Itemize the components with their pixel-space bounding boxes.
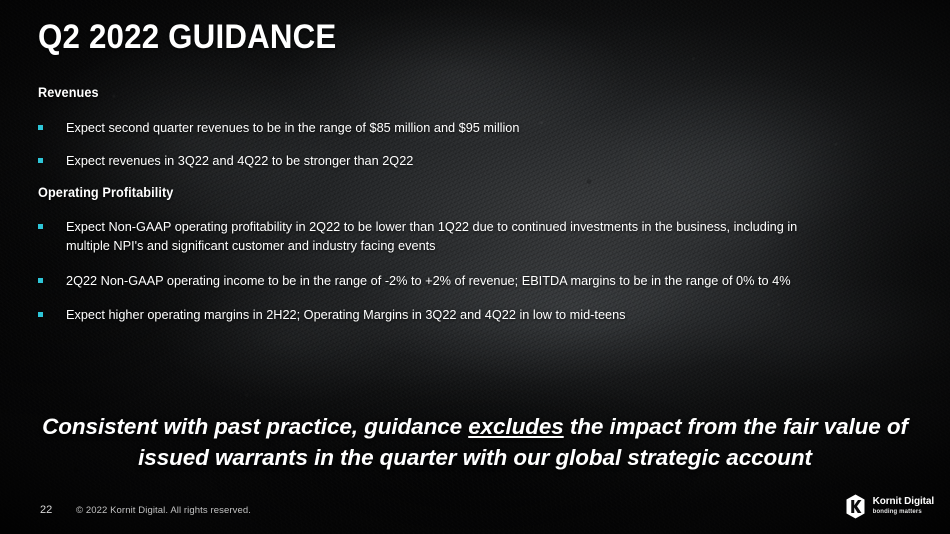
bullet-marker-icon [38, 278, 43, 283]
bullet-text: 2Q22 Non-GAAP operating income to be in … [66, 271, 791, 290]
logo-wordmark: Kornit Digital bonding matters [873, 497, 934, 516]
kornit-digital-logo: Kornit Digital bonding matters [843, 494, 934, 519]
slide-content: Q2 2022 GUIDANCE Revenues Expect second … [0, 0, 950, 534]
presentation-slide: Q2 2022 GUIDANCE Revenues Expect second … [0, 0, 950, 534]
copyright-notice: © 2022 Kornit Digital. All rights reserv… [76, 505, 251, 516]
section-heading-operating-profitability: Operating Profitability [38, 185, 173, 200]
bullet-text: Expect revenues in 3Q22 and 4Q22 to be s… [66, 151, 413, 170]
closing-emphasis: excludes [468, 414, 564, 439]
bullet-marker-icon [38, 125, 43, 130]
bullet-text: Expect higher operating margins in 2H22;… [66, 305, 626, 324]
slide-title: Q2 2022 GUIDANCE [38, 18, 336, 57]
kornit-k-icon [843, 494, 868, 519]
bullet-item: 2Q22 Non-GAAP operating income to be in … [38, 271, 928, 290]
section-heading-revenues: Revenues [38, 85, 99, 100]
closing-text-before: Consistent with past practice, guidance [42, 414, 468, 439]
bullet-item: Expect Non-GAAP operating profitability … [38, 217, 928, 255]
bullet-marker-icon [38, 224, 43, 229]
bullet-item: Expect higher operating margins in 2H22;… [38, 305, 928, 324]
bullet-text: Expect Non-GAAP operating profitability … [66, 217, 838, 255]
closing-statement: Consistent with past practice, guidance … [30, 411, 920, 473]
bullet-marker-icon [38, 312, 43, 317]
logo-company-name: Kornit Digital [873, 497, 934, 507]
bullet-text: Expect second quarter revenues to be in … [66, 118, 519, 137]
bullet-item: Expect second quarter revenues to be in … [38, 118, 928, 137]
bullet-marker-icon [38, 158, 43, 163]
logo-tagline: bonding matters [873, 509, 934, 515]
bullet-item: Expect revenues in 3Q22 and 4Q22 to be s… [38, 151, 928, 170]
page-number: 22 [40, 504, 52, 516]
